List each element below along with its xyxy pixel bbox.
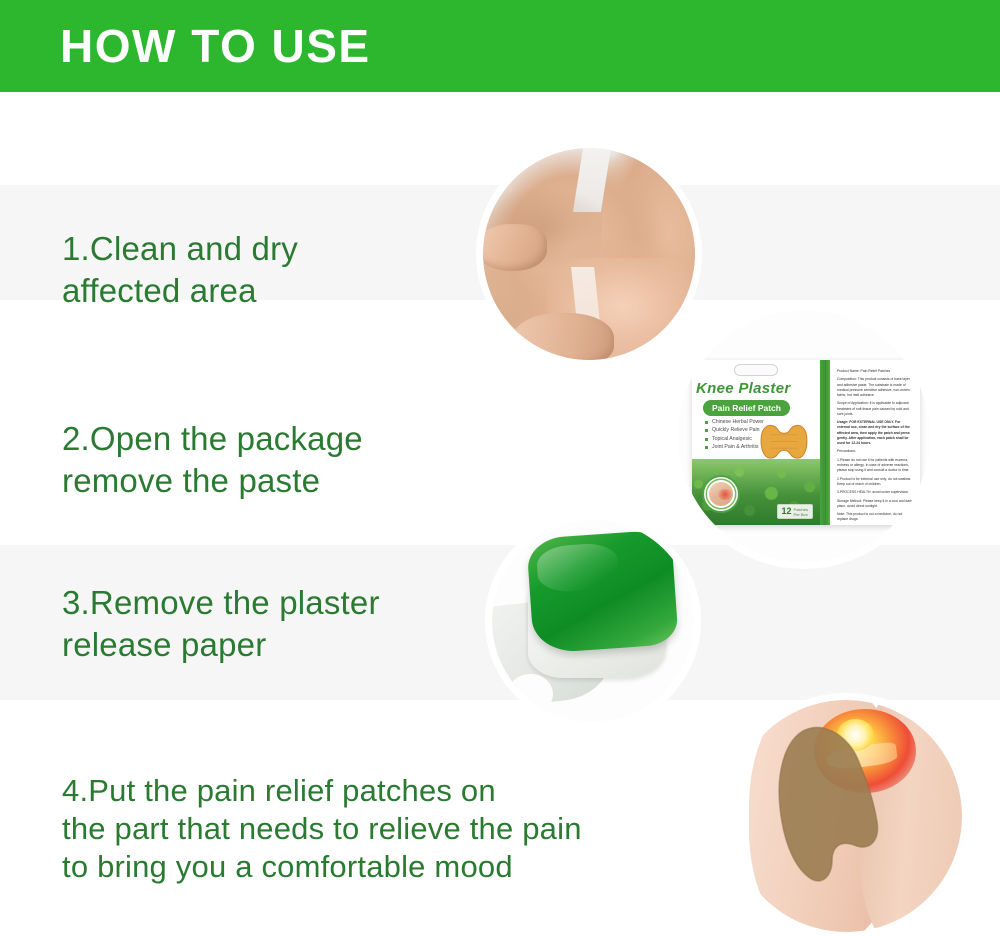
green-plaster-photo: [492, 520, 694, 722]
how-to-use-infographic: HOW TO USE 1.Clean and dry affected area…: [0, 0, 1000, 937]
package-spine: [820, 360, 830, 525]
info-line: 1.Please do not use it for patients with…: [837, 458, 914, 474]
patch-count-labels: Patches Per Box: [794, 507, 808, 517]
hang-hole: [734, 364, 778, 376]
applied-patch-icon: [767, 723, 892, 890]
seal-pain-spot: [718, 489, 732, 501]
package-title: Knee Plaster: [696, 380, 820, 397]
product-package-photo: Knee Plaster Pain Relief Patch Chinese H…: [678, 310, 930, 562]
fingers-upper: [483, 224, 547, 271]
knee-photo-inner: [730, 700, 962, 932]
step-4-text: 4.Put the pain relief patches on the par…: [62, 772, 582, 886]
plaster-photo-inner: [492, 520, 694, 722]
info-line: Usage: FOR EXTERNAL USE ONLY. For extern…: [837, 420, 914, 446]
patch-count-label-1: Patches: [794, 507, 808, 512]
info-line: 3.PROCESS HEALTH: avoid under supervisio…: [837, 490, 914, 495]
header-banner: HOW TO USE: [0, 0, 1000, 92]
info-line: Composition: This product consists of ba…: [837, 377, 914, 398]
patch-count-number: 12: [782, 507, 792, 516]
package-back-panel: Product Name: Pain Relief Patches Compos…: [830, 360, 920, 525]
header-underline: [0, 92, 1000, 96]
knee-seal-icon: [702, 475, 740, 513]
package-badge: Pain Relief Patch: [703, 400, 790, 416]
arm-photo-inner: [483, 148, 695, 360]
page-title: HOW TO USE: [60, 18, 371, 74]
patch-notch: [508, 674, 552, 714]
arm-shoulder-photo: [483, 148, 695, 360]
film-highlight: [536, 542, 620, 594]
patch-count-badge: 12 Patches Per Box: [777, 504, 813, 519]
info-line: Storage Method: Please keep it in a cool…: [837, 499, 914, 509]
patch-count-label-2: Per Box: [794, 512, 808, 517]
fingers-lower: [513, 313, 615, 360]
green-release-film: [527, 529, 680, 654]
knee-applied-photo: [730, 700, 962, 932]
package-box: Knee Plaster Pain Relief Patch Chinese H…: [692, 360, 920, 525]
step-3-text: 3.Remove the plaster release paper: [62, 582, 380, 666]
package-front-face: Knee Plaster Pain Relief Patch Chinese H…: [692, 360, 820, 525]
info-line: Precautions:: [837, 449, 914, 454]
step-1-text: 1.Clean and dry affected area: [62, 228, 298, 312]
info-line: 2.Product is for external use only, do n…: [837, 477, 914, 487]
step-2-text: 2.Open the package remove the paste: [62, 418, 363, 502]
info-line: Scope of Application: It is applicable t…: [837, 401, 914, 417]
patch-shape-icon: [758, 422, 810, 462]
info-line: Note: This product is not a medicine, do…: [837, 512, 914, 522]
info-line: Product Name: Pain Relief Patches: [837, 369, 914, 374]
package-photo-inner: Knee Plaster Pain Relief Patch Chinese H…: [678, 310, 930, 562]
